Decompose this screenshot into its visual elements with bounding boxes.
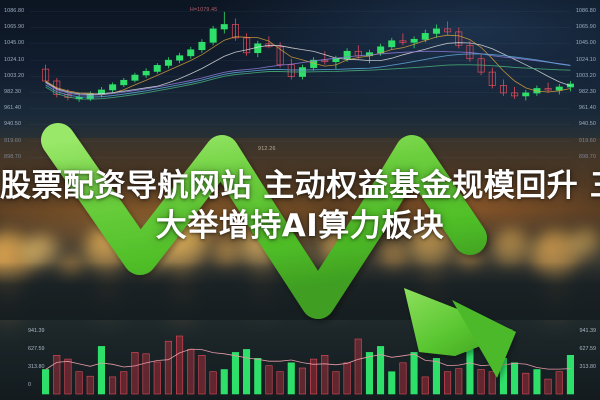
headline-line-2: 大举增持AI算力板块 bbox=[0, 206, 600, 246]
news-banner-image: 1086.801065.901045.001024.101003.20982.3… bbox=[0, 0, 600, 400]
headline-line-1: 股票配资导航网站 主动权益基金规模回升 三季度 bbox=[0, 166, 600, 206]
page-title: 股票配资导航网站 主动权益基金规模回升 三季度 大举增持AI算力板块 bbox=[0, 166, 600, 246]
